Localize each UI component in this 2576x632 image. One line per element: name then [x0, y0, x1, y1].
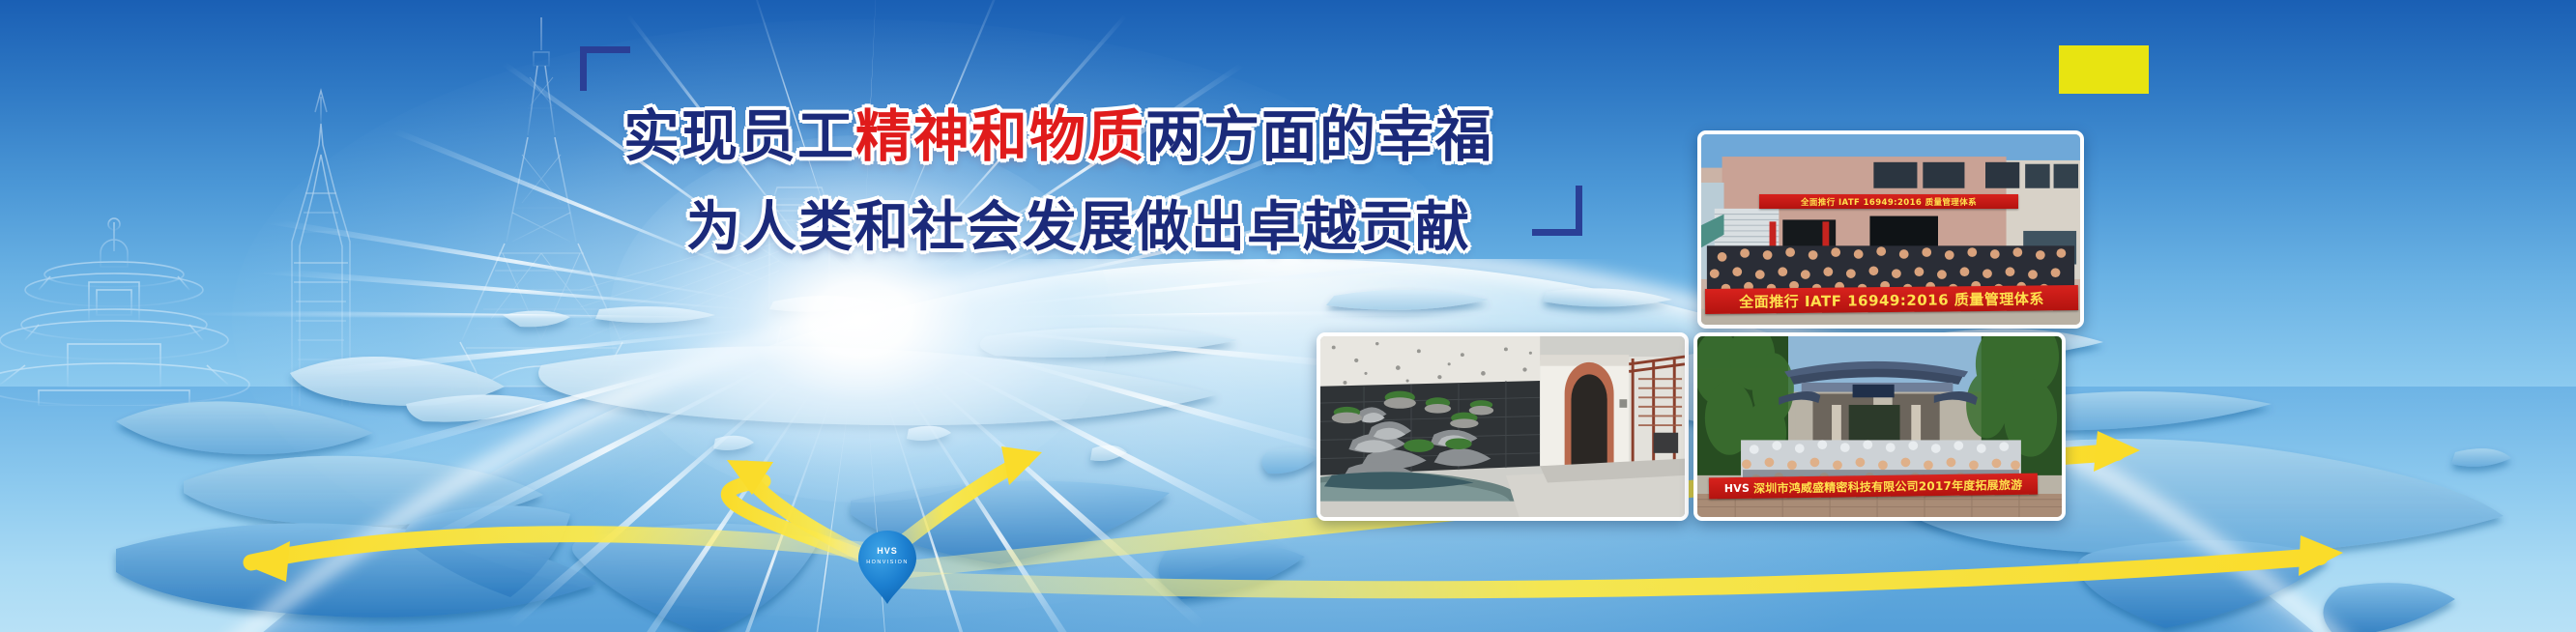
globe-container	[0, 259, 2576, 632]
photo-outing-banner-logo: HVS	[1724, 481, 1750, 494]
photo-iatf-group[interactable]: 全面推行 IATF 16949:2016 质量管理体系 全面推行 IATF 16…	[1697, 130, 2084, 329]
bracket-bottom-right-icon	[1532, 186, 1582, 236]
bracket-top-left-icon	[580, 46, 630, 91]
yellow-accent-box	[2059, 45, 2149, 94]
company-culture-banner: 实现员工精神和物质两方面的幸福 为人类和社会发展做出卓越贡献	[0, 0, 2576, 632]
photo-garden-courtyard[interactable]	[1317, 332, 1689, 521]
photo-iatf-banner-top: 全面推行 IATF 16949:2016 质量管理体系	[1759, 194, 2018, 209]
slogan-line-2: 为人类和社会发展做出卓越贡献	[686, 184, 1471, 262]
pin-logo-mark: HVS HONVISION	[855, 546, 919, 567]
slogan-line-1: 实现员工精神和物质两方面的幸福	[623, 91, 1493, 172]
photo-outing-banner-text: 深圳市鸿威盛精密科技有限公司2017年度拓展旅游	[1753, 475, 2022, 496]
photo-garden-scene	[1320, 336, 1685, 517]
slogan-line-1-part-3: 两方面的幸福	[1145, 103, 1493, 169]
photo-outing-2017[interactable]: HVS 深圳市鸿威盛精密科技有限公司2017年度拓展旅游	[1693, 332, 2066, 521]
slogan-block: 实现员工精神和物质两方面的幸福 为人类和社会发展做出卓越贡献	[580, 41, 1643, 263]
photo-iatf-banner-bottom: 全面推行 IATF 16949:2016 质量管理体系	[1705, 285, 2078, 314]
slogan-line-1-part-2: 精神和物质	[855, 103, 1145, 169]
pin-logo-text: HVS	[877, 546, 898, 556]
pin-logo-subtext: HONVISION	[866, 560, 908, 565]
slogan-line-1-part-1: 实现员工	[623, 103, 855, 169]
map-pin-logo[interactable]: HVS HONVISION	[855, 529, 919, 606]
